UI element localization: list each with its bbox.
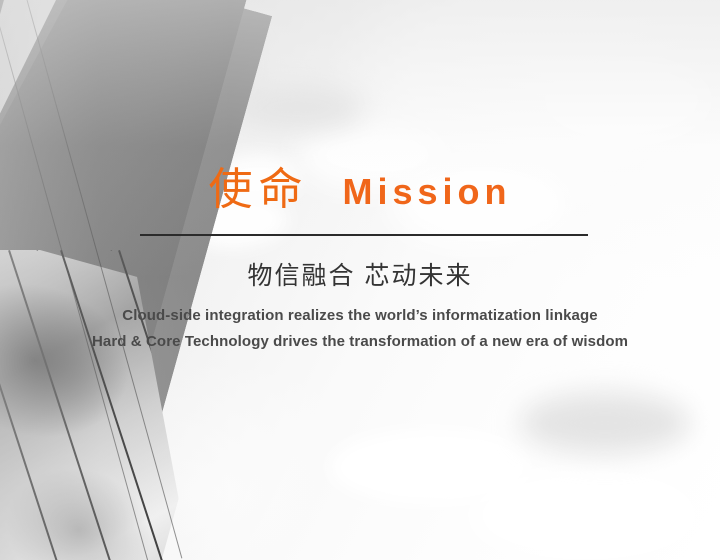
subtitle-chinese: 物信融合 芯动未来: [0, 256, 720, 292]
banner-content: 使命 Mission 物信融合 芯动未来 Cloud-side integrat…: [0, 0, 720, 560]
mission-banner: 使命 Mission 物信融合 芯动未来 Cloud-side integrat…: [0, 0, 720, 560]
description-line-2: Hard & Core Technology drives the transf…: [0, 329, 720, 355]
description-block: Cloud-side integration realizes the worl…: [0, 303, 720, 355]
banner-title: 使命 Mission: [0, 168, 720, 212]
description-line-1: Cloud-side integration realizes the worl…: [0, 303, 720, 329]
title-divider: [140, 234, 588, 236]
title-english: Mission: [342, 174, 511, 210]
title-chinese: 使命: [208, 168, 308, 212]
